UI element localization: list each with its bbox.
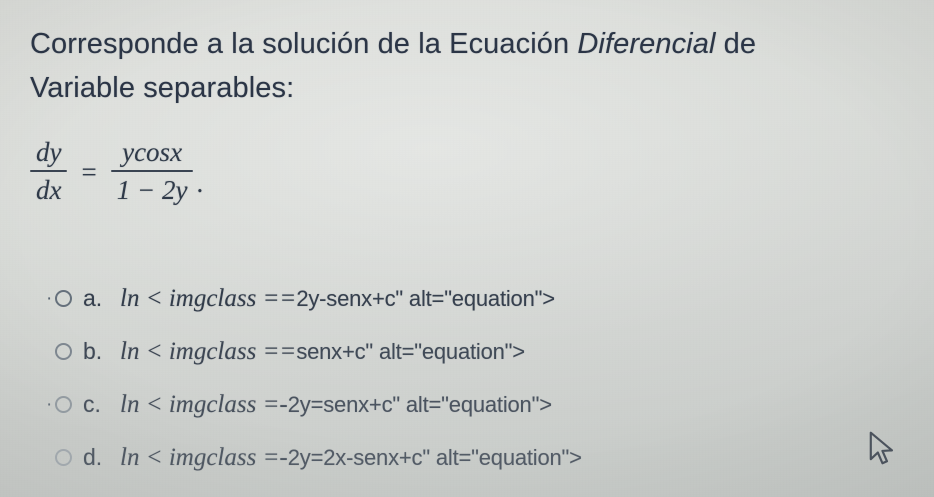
equation-lhs-fraction: dy dx (30, 137, 67, 205)
radio-button-b[interactable] (55, 343, 72, 360)
differential-equation: dy dx = ycosx 1 − 2y . (30, 137, 203, 205)
option-letter-c: c. (83, 391, 107, 418)
option-plain-c: 2y=senx+c" alt="equation"> (288, 392, 552, 418)
option-plain-a: 2y-senx+c" alt="equation"> (296, 286, 555, 312)
answer-option-d[interactable]: d. ln < imgclass =- 2y=2x-senx+c" alt="e… (46, 431, 906, 484)
equation-rhs-fraction: ycosx 1 − 2y (111, 137, 194, 205)
option-letter-a: a. (83, 285, 107, 312)
option-plain-b: senx+c" alt="equation"> (296, 339, 525, 365)
question-text-part2: de (716, 28, 757, 60)
option-lead-dot-a: · (46, 289, 55, 308)
answer-option-b[interactable]: b. ln < imgclass == senx+c" alt="equatio… (46, 325, 906, 378)
radio-button-d[interactable] (55, 449, 72, 466)
option-letter-d: d. (83, 444, 107, 471)
photographed-quiz-page: Corresponde a la solución de la Ecuación… (0, 0, 934, 497)
equation-lhs-denominator: dx (30, 172, 67, 205)
option-math-b: ln < imgclass == (120, 338, 296, 366)
answer-options-list: · a. ln < imgclass == 2y-senx+c" alt="eq… (46, 272, 906, 484)
option-letter-b: b. (83, 338, 107, 365)
radio-button-a[interactable] (55, 290, 72, 307)
equation-lhs-numerator: dy (30, 137, 67, 170)
answer-option-c[interactable]: · c. ln < imgclass =- 2y=senx+c" alt="eq… (46, 378, 906, 431)
equation-equals-sign: = (81, 159, 96, 186)
question-text-line2: Variable separables: (30, 72, 294, 104)
equation-rhs-denominator: 1 − 2y (111, 172, 194, 205)
answer-option-a[interactable]: · a. ln < imgclass == 2y-senx+c" alt="eq… (46, 272, 906, 325)
question-text-emphasis: Diferencial (577, 28, 715, 60)
question-prompt: Corresponde a la solución de la Ecuación… (30, 22, 930, 110)
option-math-a: ln < imgclass == (120, 285, 296, 313)
equation-rhs-numerator: ycosx (116, 137, 188, 170)
question-text-part1: Corresponde a la solución de la Ecuación (30, 28, 577, 60)
radio-button-c[interactable] (55, 396, 72, 413)
option-math-c: ln < imgclass =- (120, 391, 288, 419)
option-plain-d: 2y=2x-senx+c" alt="equation"> (288, 445, 582, 471)
option-lead-dot-c: · (46, 395, 55, 414)
mouse-pointer-icon (866, 430, 900, 468)
equation-trailing-period: . (196, 168, 203, 205)
option-math-d: ln < imgclass =- (120, 444, 288, 472)
